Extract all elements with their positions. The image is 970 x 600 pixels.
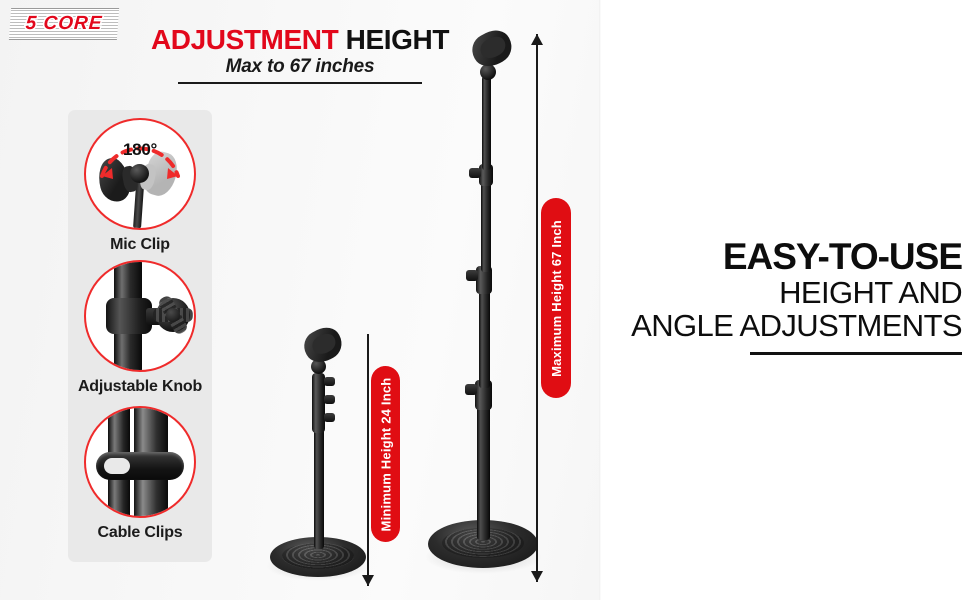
promo-line-2: HEIGHT AND bbox=[610, 276, 962, 309]
brand-logo-text: 5 CORE bbox=[25, 13, 103, 35]
feature-panel: 180° Mic Clip Adjustable Knob Cabl bbox=[68, 110, 212, 562]
tall-stand-neck-pole bbox=[482, 76, 491, 170]
short-stand-knob-3 bbox=[324, 413, 335, 422]
feature-label-adjustable-knob: Adjustable Knob bbox=[68, 378, 212, 396]
rotation-arc-icon bbox=[86, 120, 194, 228]
maximum-height-measurement bbox=[536, 34, 538, 582]
minimum-height-arrow-down bbox=[362, 575, 374, 586]
minimum-height-badge-label: Minimum Height 24 Inch bbox=[378, 377, 393, 531]
tall-stand-mid-pole bbox=[479, 284, 490, 388]
tall-stand-knob-lower bbox=[465, 384, 477, 395]
feature-item-adjustable-knob: Adjustable Knob bbox=[68, 260, 212, 396]
cable-clip-icon bbox=[84, 406, 196, 518]
brand-logo: 5 CORE bbox=[9, 8, 119, 40]
tall-stand-knob-top bbox=[469, 168, 481, 178]
minimum-height-line bbox=[367, 334, 369, 586]
maximum-height-line bbox=[536, 34, 538, 582]
promo-line-1: EASY-TO-USE bbox=[610, 238, 962, 276]
promo-line-3: ANGLE ADJUSTMENTS bbox=[610, 309, 962, 342]
rotation-degree-label: 180° bbox=[86, 140, 194, 160]
tall-stand-knob-upper bbox=[466, 270, 478, 281]
maximum-height-arrow-down bbox=[531, 571, 543, 582]
title-underline bbox=[178, 82, 422, 84]
panel-divider bbox=[599, 0, 601, 600]
adjustable-knob-icon bbox=[84, 260, 196, 372]
short-stand-lower-pole bbox=[314, 427, 324, 549]
tall-mic-stand bbox=[410, 28, 540, 588]
minimum-height-badge: Minimum Height 24 Inch bbox=[371, 366, 400, 542]
infographic-canvas: 5 CORE ADJUSTMENT HEIGHT Max to 67 inche… bbox=[0, 0, 970, 600]
feature-item-cable-clips: Cable Clips bbox=[68, 406, 212, 542]
short-stand-knob-2 bbox=[324, 395, 335, 404]
promo-headline: EASY-TO-USE HEIGHT AND ANGLE ADJUSTMENTS bbox=[610, 238, 962, 343]
page-title-highlight: ADJUSTMENT bbox=[151, 24, 338, 55]
brand-logo-inner: 5 CORE bbox=[9, 9, 119, 39]
short-stand-knob-1 bbox=[324, 377, 335, 386]
feature-label-mic-clip: Mic Clip bbox=[68, 236, 212, 254]
tall-stand-lower-pole bbox=[477, 400, 490, 540]
maximum-height-badge-label: Maximum Height 67 Inch bbox=[549, 220, 564, 377]
maximum-height-badge: Maximum Height 67 Inch bbox=[541, 198, 571, 398]
feature-item-mic-clip: 180° Mic Clip bbox=[68, 118, 212, 254]
mic-clip-rotation-icon: 180° bbox=[84, 118, 196, 230]
tall-stand-upper-pole bbox=[481, 176, 491, 272]
knob-cap-shape bbox=[166, 308, 180, 322]
short-mic-stand bbox=[258, 315, 378, 585]
minimum-height-measurement bbox=[367, 334, 369, 586]
cable-clip-opening-shape bbox=[104, 458, 130, 474]
maximum-height-arrow-up bbox=[531, 34, 543, 45]
feature-label-cable-clips: Cable Clips bbox=[68, 524, 212, 542]
promo-underline bbox=[750, 352, 962, 355]
